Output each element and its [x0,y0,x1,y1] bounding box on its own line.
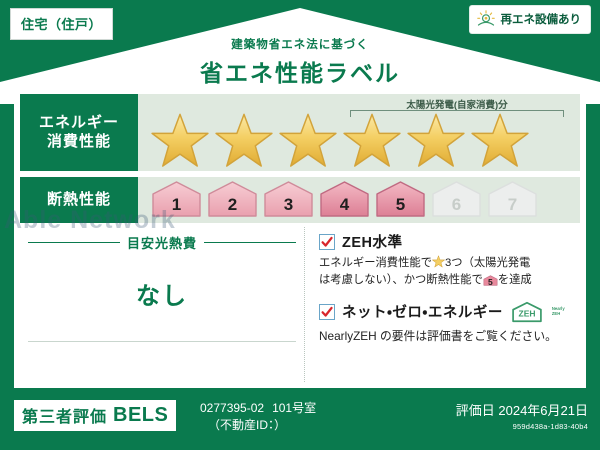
insulation-grade-3: 3 [262,180,315,218]
utility-cost-bottom-rule [28,341,296,342]
star-icon [342,112,402,169]
grade-value: 2 [228,195,237,215]
net-zero-energy-checkbox[interactable] [319,304,335,320]
zeh-spacer [319,289,576,301]
rule-left [28,242,120,243]
grade-value: 7 [508,195,517,215]
energy-performance-row: エネルギー 消費性能 太陽光発電(自家消費)分 [20,94,580,171]
label-footer: 第三者評価 BELS 0277395-02101号室 （不動産ID：） 評価日 … [0,392,600,450]
evaluation-date-block: 評価日 2024年6月21日 959d438a-1d83-40b4 [456,400,588,431]
evaluation-date-label: 評価日 [456,403,495,418]
zeh-desc-part-c: を達成 [498,274,532,286]
certificate-line1: 0277395-02101号室 [200,400,316,417]
certificate-number: 0277395-02 [200,401,264,415]
evaluation-date-line: 評価日 2024年6月21日 [456,400,588,419]
estimated-utility-cost-panel: 目安光熱費 なし [20,227,305,382]
zeh-house-logo-icon: ZEH [510,301,544,323]
net-zero-energy-label: ネット・ゼロ・エネルギー [342,301,503,322]
star-icon [214,112,274,169]
zeh-desc-part-b: は考慮しない）、かつ断熱性能で [319,274,483,286]
utility-cost-heading-text: 目安光熱費 [127,233,197,252]
insulation-grade-2: 2 [206,180,259,218]
label-card: エネルギー 消費性能 太陽光発電(自家消費)分 断熱性能 [14,88,586,388]
utility-cost-heading: 目安光熱費 [28,233,296,252]
room-number: 101号室 [272,401,316,415]
star-icon [432,255,445,268]
insulation-grade-7: 7 [486,180,539,218]
bels-logo-text: BELS [113,404,168,427]
grade-value: 1 [172,195,181,215]
label-title: 省エネ性能ラベル [0,54,600,88]
sun-icon [476,10,496,28]
rule-right [204,242,296,243]
nearly-zeh-note: NearlyZEH の要件は評価書をご覧ください。 [319,327,576,344]
zeh-logo-subtext: NearlyZEH [552,307,565,316]
property-id: （不動産ID：） [200,417,316,434]
star-icon [150,112,210,169]
insulation-grade-5: 5 [374,180,427,218]
inline-grade-value: 5 [488,277,493,287]
label-title-block: 建築物省エネ法に基づく 省エネ性能ラベル [0,36,600,88]
energy-performance-label: エネルギー 消費性能 [20,94,138,171]
energy-label-line1: エネルギー [39,114,119,133]
star-icon [406,112,466,169]
zeh-desc-part-a: エネルギー消費性能で [319,257,432,269]
label-subtitle: 建築物省エネ法に基づく [0,36,600,52]
inline-grade-badge: 5 [483,274,498,287]
star-icon [470,112,530,169]
insulation-grade-scale: 1 2 3 4 5 [144,177,574,221]
zeh-desc-star-count: 3つ（太陽光発電 [445,257,530,269]
insulation-performance-row: 断熱性能 1 2 3 [20,177,580,223]
solar-range-bracket [350,110,564,117]
renewable-equipment-badge: 再エネ設備あり [470,6,591,33]
solar-generation-note: 太陽光発電(自家消費)分 [346,97,568,111]
document-hash: 959d438a-1d83-40b4 [456,422,588,431]
certificate-info: 0277395-02101号室 （不動産ID：） [200,400,316,435]
check-icon [320,235,334,249]
energy-performance-label: 住宅（住戸） 再エネ設備あり 建築物省エネ法に基づく 省エネ性能ラベル エネルギ… [0,0,600,450]
star-icon [278,112,338,169]
utility-cost-value: なし [136,276,188,311]
renewable-badge-label: 再エネ設備あり [501,11,582,27]
zeh-panel: ZEH水準 エネルギー消費性能で3つ（太陽光発電 は考慮しない）、かつ断熱性能で… [305,227,580,382]
energy-star-rating [144,112,574,169]
lower-section: 目安光熱費 なし ZEH水準 エネルギー消費性能で3つ（太陽光発電 は考慮しない… [20,227,580,382]
insulation-performance-value: 1 2 3 4 5 [138,177,580,223]
svg-text:ZEH: ZEH [518,309,535,319]
insulation-grade-1: 1 [150,180,203,218]
check-icon [320,305,334,319]
bels-evaluation-badge: 第三者評価 BELS [14,400,176,431]
insulation-grade-6: 6 [430,180,483,218]
evaluation-date-value: 2024年6月21日 [498,403,588,418]
zeh-standard-checkbox[interactable] [319,234,335,250]
grade-value: 4 [340,195,349,215]
insulation-performance-label: 断熱性能 [20,177,138,223]
energy-label-line2: 消費性能 [47,133,111,152]
grade-value: 6 [452,195,461,215]
grade-value: 5 [396,195,405,215]
grade-value: 3 [284,195,293,215]
zeh-standard-row: ZEH水準 [319,231,576,252]
zeh-standard-description: エネルギー消費性能で3つ（太陽光発電 は考慮しない）、かつ断熱性能で5を達成 [319,255,576,289]
net-zero-energy-row: ネット・ゼロ・エネルギー ZEH NearlyZEH [319,301,576,323]
zeh-standard-label: ZEH水準 [342,231,403,252]
energy-performance-value: 太陽光発電(自家消費)分 [138,94,580,171]
insulation-label-text: 断熱性能 [47,191,111,210]
third-party-eval-label: 第三者評価 [22,403,107,427]
insulation-grade-4: 4 [318,180,371,218]
